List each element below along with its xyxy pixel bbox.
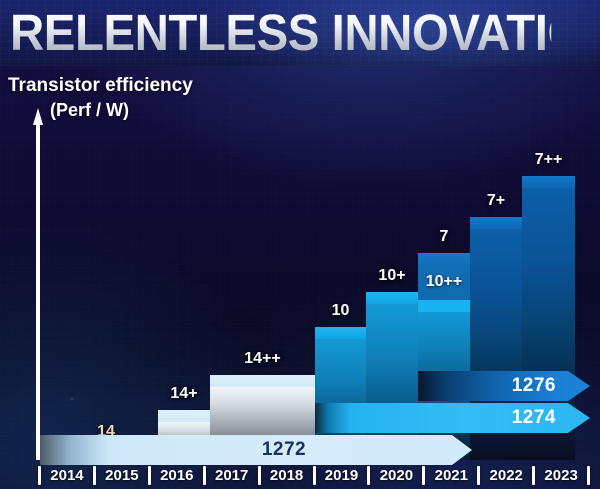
year-label-2020: 2020 <box>380 467 413 484</box>
year-label-2018: 2018 <box>270 467 303 484</box>
y-axis-label-line1: Transistor efficiency <box>8 75 193 96</box>
bar-inner-label: 10++ <box>426 273 462 291</box>
y-axis-label: Transistor efficiency (Perf / W) <box>8 74 193 122</box>
bar-label: 14+ <box>170 385 197 403</box>
year-label-2016: 2016 <box>160 467 193 484</box>
process-band-1272[interactable]: 1272 <box>40 435 472 465</box>
x-axis-years: 2014 2015 2016 2017 2018 2019 2020 2021 … <box>0 462 600 489</box>
title-band: RELENTLESS INNOVATION CONTINUES <box>0 0 600 66</box>
band-shape <box>40 435 472 465</box>
bar-label: 7++ <box>535 151 563 169</box>
bar-label: 10 <box>332 302 350 320</box>
year-label-2022: 2022 <box>490 467 523 484</box>
year-label-2021: 2021 <box>435 467 468 484</box>
bar-cap <box>210 375 315 387</box>
band-label: 1274 <box>512 407 590 429</box>
page-title: RELENTLESS INNOVATION CONTINUES <box>10 5 551 61</box>
bar-cap <box>470 217 522 229</box>
year-label-2015: 2015 <box>105 467 138 484</box>
process-band-1274[interactable]: 1274 <box>315 403 590 433</box>
y-axis-label-line2: (Perf / W) <box>8 98 193 122</box>
slide-root: RELENTLESS INNOVATION CONTINUES Transist… <box>0 0 600 489</box>
bar-cap <box>366 292 418 304</box>
bar-cap <box>522 176 575 188</box>
y-axis-shaft <box>36 122 40 460</box>
year-label-2017: 2017 <box>215 467 248 484</box>
axis-tick <box>587 466 590 485</box>
year-label-2019: 2019 <box>325 467 358 484</box>
plot-area: 14 14+ 14++ 10 10+ 7 <box>0 108 600 460</box>
bar-cap <box>315 327 366 339</box>
bar-label: 7 <box>440 228 449 246</box>
process-band-1276[interactable]: 1276 <box>418 371 590 401</box>
bar-label: 7+ <box>487 192 505 210</box>
band-label: 1276 <box>512 375 590 397</box>
bar-label: 14++ <box>244 350 280 368</box>
bar-label: 10+ <box>378 267 405 285</box>
bar-cap <box>418 253 470 264</box>
bar-cap <box>158 410 210 422</box>
year-label-2014: 2014 <box>50 467 83 484</box>
bar-segment-divider <box>418 300 470 312</box>
year-label-2023: 2023 <box>544 467 577 484</box>
band-label: 1272 <box>262 439 306 461</box>
y-axis-arrow <box>33 108 42 460</box>
